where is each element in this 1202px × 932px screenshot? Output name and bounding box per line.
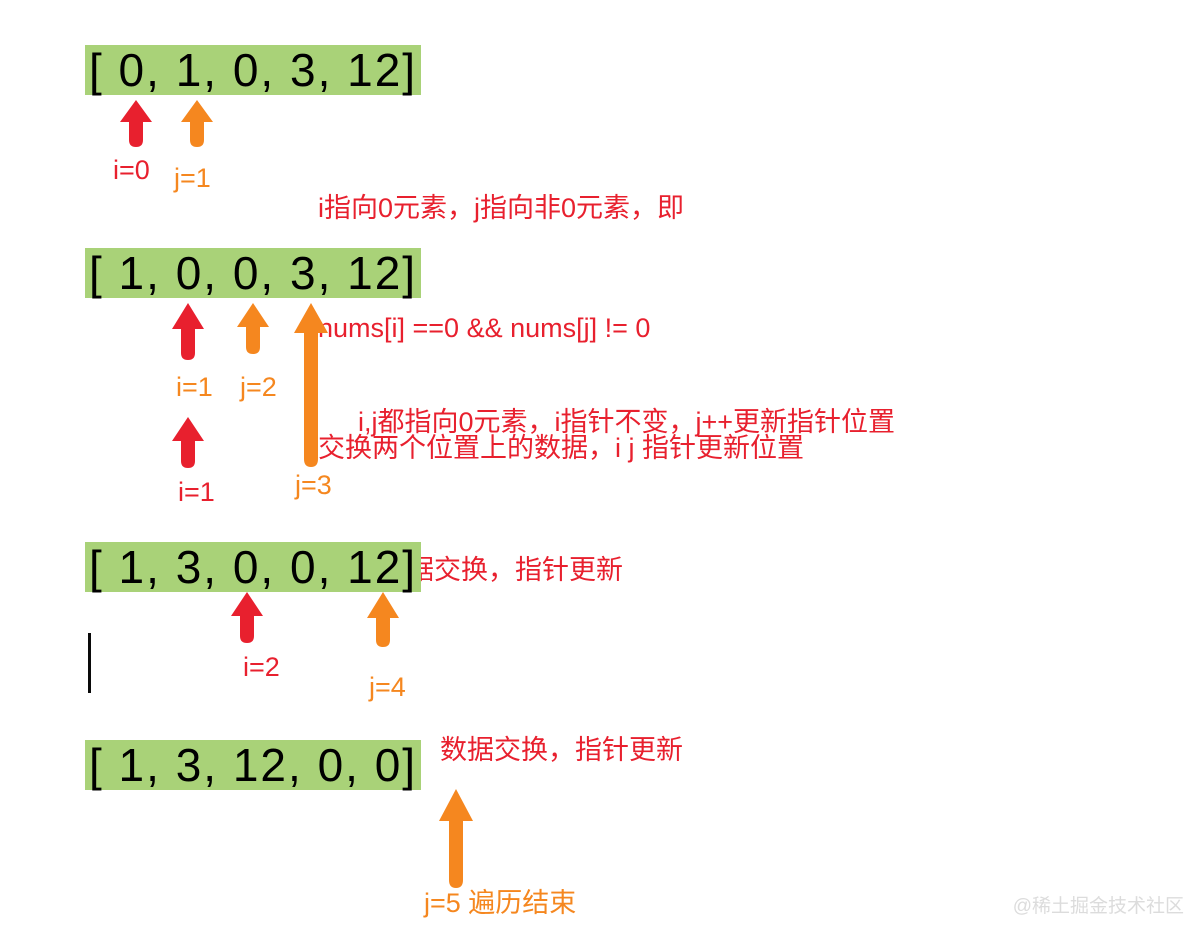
annotation-step-3-line-1: 数据交换，指针更新: [440, 730, 683, 770]
annotation-step-3: 数据交换，指针更新: [440, 650, 683, 850]
array-state-step-3: [ 1, 3, 0, 0, 12]: [85, 542, 421, 592]
pointer-label-j-step-4: j=5 遍历结束: [424, 888, 576, 918]
text-caret: [88, 633, 91, 693]
watermark: @稀土掘金技术社区: [1013, 891, 1184, 918]
array-state-step-2: [ 1, 0, 0, 3, 12]: [85, 248, 421, 298]
pointer-label-j3-step-2: j=3: [295, 470, 332, 500]
annotation-step-1-line-1: i指向0元素，j指向非0元素，即: [318, 188, 804, 228]
pointer-arrow-j-step-3: [365, 592, 401, 648]
pointer-arrow-j-step-4: [437, 789, 475, 889]
pointer-label-i-step-3: i=2: [243, 652, 280, 682]
pointer-label-i-step-2: i=1: [176, 372, 213, 402]
pointer-label-j2-step-2: j=2: [240, 372, 277, 402]
pointer-arrow-j-step-1: [179, 100, 215, 148]
pointer-arrow-i-step-1: [118, 100, 154, 148]
pointer-arrow-i-step-2b: [170, 417, 206, 469]
pointer-label-i-step-2b: i=1: [178, 477, 215, 507]
pointer-arrow-i-step-2: [170, 303, 206, 361]
annotation-step-2-line-1: i,j都指向0元素，i指针不变，j++更新指针位置: [358, 402, 895, 442]
pointer-arrow-i-step-3: [229, 592, 265, 644]
pointer-label-i-step-1: i=0: [113, 155, 150, 185]
array-state-step-4: [ 1, 3, 12, 0, 0]: [85, 740, 421, 790]
diagram-canvas: [ 0, 1, 0, 3, 12] i=0 j=1 i指向0元素，j指向非0元素…: [0, 0, 1202, 932]
pointer-label-j-step-1: j=1: [174, 163, 211, 193]
pointer-arrow-j2-step-2: [235, 303, 271, 355]
array-state-step-1: [ 0, 1, 0, 3, 12]: [85, 45, 421, 95]
pointer-arrow-j3-step-2: [292, 303, 330, 468]
pointer-label-j-step-3: j=4: [369, 672, 406, 702]
